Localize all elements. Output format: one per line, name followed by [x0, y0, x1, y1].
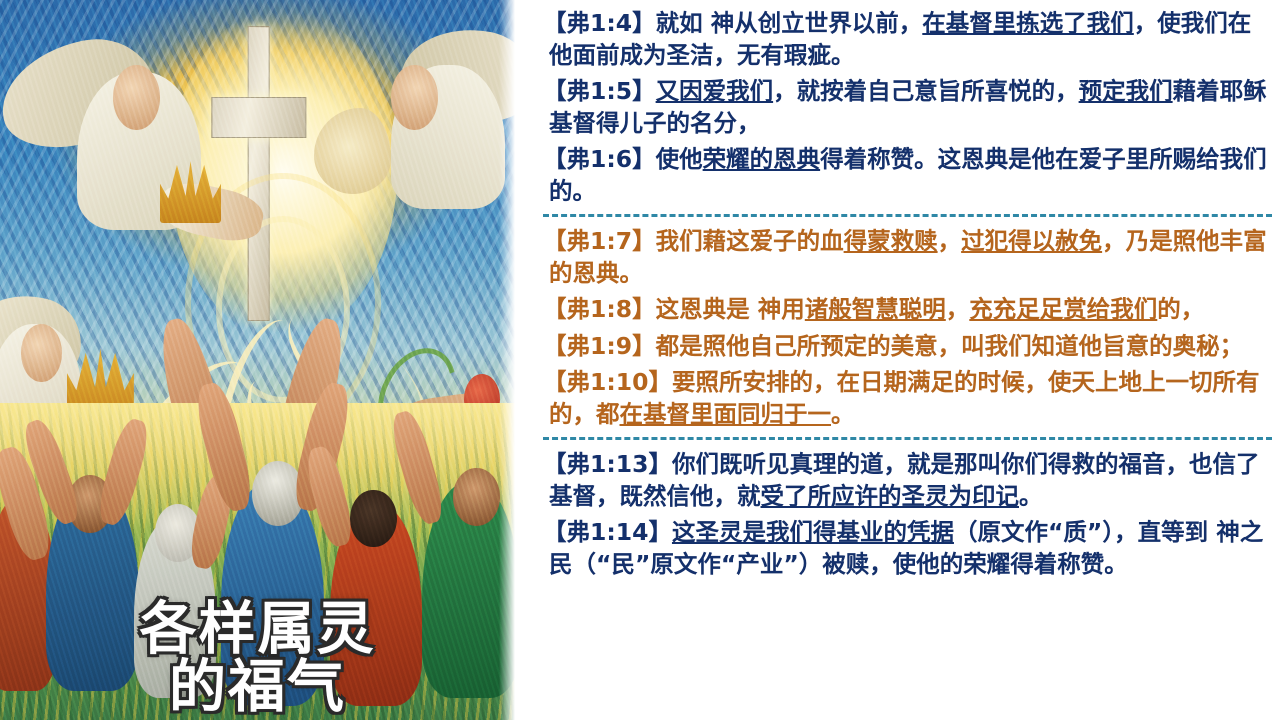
verse-reference: 【弗1:6】: [543, 145, 656, 173]
verse-group: 【弗1:4】就如 神从创立世界以前，在基督里拣选了我们，使我们在他面前成为圣洁，…: [543, 8, 1272, 207]
verse-reference: 【弗1:7】: [543, 227, 656, 255]
scripture-panel: 【弗1:4】就如 神从创立世界以前，在基督里拣选了我们，使我们在他面前成为圣洁，…: [515, 0, 1280, 720]
verse-reference: 【弗1:14】: [543, 518, 672, 546]
verse-text: 就如: [656, 9, 703, 37]
verse-reference: 【弗1:4】: [543, 9, 656, 37]
section-divider: [543, 437, 1272, 440]
verse-text: 都是照他自己所预定的美意，叫我们知道他旨意的奥秘；: [656, 332, 1244, 360]
verse-emphasis: 充充足足赏给我们: [969, 295, 1157, 323]
verse-reference: 【弗1:8】: [543, 295, 656, 323]
slide-title-line-1: 各样属灵: [0, 600, 515, 658]
cross-crossbar: [211, 97, 306, 137]
verse-text: ，就按着自己意旨所喜悦的，: [773, 77, 1079, 105]
slide-root: 各样属灵 的福气 【弗1:4】就如 神从创立世界以前，在基督里拣选了我们，使我们…: [0, 0, 1280, 720]
verse-emphasis: 诸般智慧聪明: [805, 295, 946, 323]
verse-text: 我们藉这爱子的血: [656, 227, 844, 255]
crown-icon-1: [160, 158, 222, 223]
angel-head-left: [21, 324, 62, 382]
verse-emphasis: 得蒙救赎: [844, 227, 938, 255]
slide-title-line-2: 的福气: [0, 658, 515, 716]
verse-line: 【弗1:14】这圣灵是我们得基业的凭据（原文作“质”），直等到 神之民（“民”原…: [543, 517, 1272, 580]
section-divider: [543, 214, 1272, 217]
verse-text: 使他: [656, 145, 703, 173]
verse-reference: 【弗1:5】: [543, 77, 656, 105]
scripture-content: 【弗1:4】就如 神从创立世界以前，在基督里拣选了我们，使我们在他面前成为圣洁，…: [543, 8, 1272, 580]
verse-text: 的，: [1157, 295, 1204, 323]
verse-line: 【弗1:13】你们既听见真理的道，就是那叫你们得救的福音，也信了基督，既然信他，…: [543, 449, 1272, 512]
verse-emphasis: 过犯得以赦免: [961, 227, 1102, 255]
verse-reference: 【弗1:10】: [543, 368, 672, 396]
verse-line: 【弗1:4】就如 神从创立世界以前，在基督里拣选了我们，使我们在他面前成为圣洁，…: [543, 8, 1272, 71]
verse-line: 【弗1:9】都是照他自己所预定的美意，叫我们知道他旨意的奥秘；: [543, 331, 1272, 363]
verse-group: 【弗1:13】你们既听见真理的道，就是那叫你们得救的福音，也信了基督，既然信他，…: [543, 449, 1272, 580]
verse-emphasis: 在基督里拣选了我们: [922, 9, 1134, 37]
verse-reference: 【弗1:13】: [543, 450, 672, 478]
verse-reference: 【弗1:9】: [543, 332, 656, 360]
angel-head-topleft: [113, 65, 159, 130]
verse-line: 【弗1:10】要照所安排的，在日期满足的时候，使天上地上一切所有的，都在基督里面…: [543, 367, 1272, 430]
worshipper-5-head: [350, 490, 396, 548]
verse-emphasis: 又因爱我们: [656, 77, 774, 105]
verse-text: ，: [946, 295, 970, 323]
verse-text: ，: [938, 227, 962, 255]
verse-text: 。: [831, 400, 855, 428]
verse-line: 【弗1:5】又因爱我们，就按着自己意旨所喜悦的，预定我们藉着耶稣基督得儿子的名分…: [543, 76, 1272, 139]
artwork-panel: 各样属灵 的福气: [0, 0, 515, 720]
verse-emphasis: 荣耀的恩典: [703, 145, 821, 173]
worshipper-6-head: [453, 468, 499, 526]
verse-line: 【弗1:7】我们藉这爱子的血得蒙救赎，过犯得以赦免，乃是照他丰富的恩典。: [543, 226, 1272, 289]
verse-group: 【弗1:7】我们藉这爱子的血得蒙救赎，过犯得以赦免，乃是照他丰富的恩典。【弗1:…: [543, 226, 1272, 430]
verse-emphasis: 预定我们: [1079, 77, 1173, 105]
verse-text: 神用: [750, 295, 805, 323]
verse-text: 神从创立世界以前，: [703, 9, 923, 37]
verse-emphasis: 受了所应许的圣灵为印记: [761, 482, 1020, 510]
verse-emphasis: 在基督里面同归于一: [620, 400, 832, 428]
verse-line: 【弗1:8】这恩典是 神用诸般智慧聪明，充充足足赏给我们的，: [543, 294, 1272, 326]
angel-head-topright: [391, 65, 437, 130]
verse-emphasis: 这圣灵是我们得基业的凭据: [672, 518, 954, 546]
verse-text: 。: [1019, 482, 1043, 510]
verse-text: 这恩典是: [656, 295, 750, 323]
slide-title: 各样属灵 的福气: [0, 600, 515, 716]
verse-line: 【弗1:6】使他荣耀的恩典得着称赞。这恩典是他在爱子里所赐给我们的。: [543, 144, 1272, 207]
